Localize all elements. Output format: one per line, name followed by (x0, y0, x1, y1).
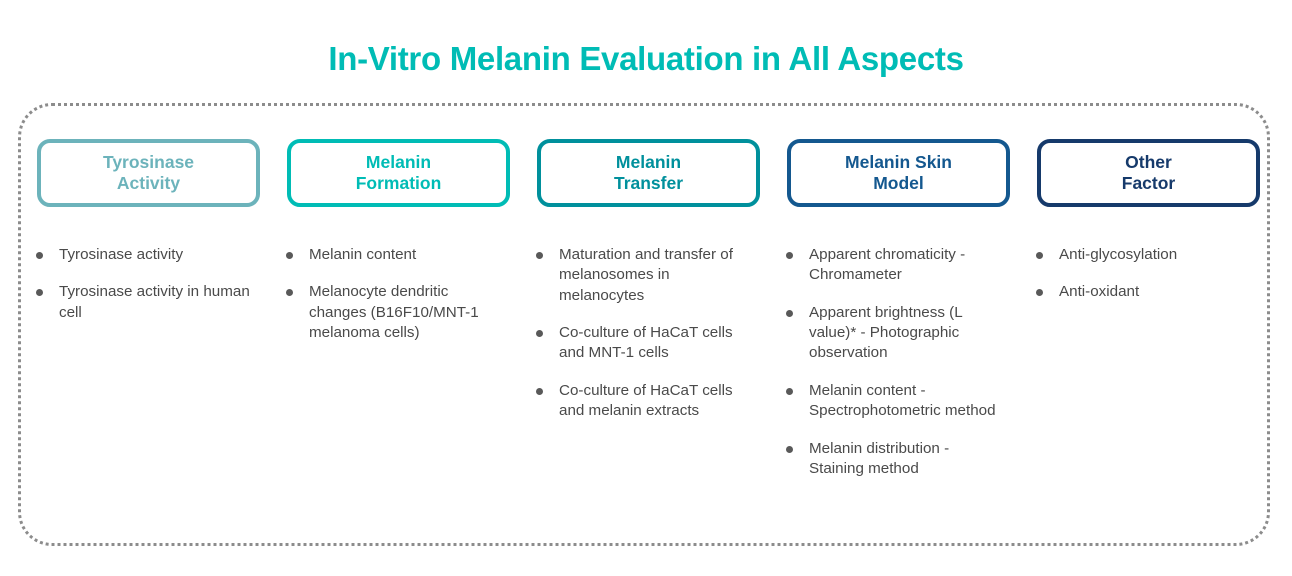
columns-container: Tyrosinase Activity Tyrosinase activity … (18, 103, 1270, 546)
bullet-dot-icon (786, 310, 793, 317)
category-header-melanin-formation[interactable]: Melanin Formation (287, 139, 510, 207)
bullet-list-melanin-skin-model: Apparent chromaticity - Chromameter Appa… (786, 245, 1008, 496)
header-line-1: Other (1125, 152, 1172, 172)
bullet-dot-icon (786, 252, 793, 259)
header-line-2: Activity (117, 173, 180, 193)
list-item: Melanin content - Spectrophotometric met… (786, 381, 1008, 422)
list-item-text: Melanin content - Spectrophotometric met… (809, 381, 1008, 422)
list-item: Anti-oxidant (1036, 282, 1258, 302)
column-melanin-formation: Melanin Formation Melanin content Melano… (268, 103, 518, 360)
list-item-text: Anti-oxidant (1059, 282, 1258, 302)
bullet-dot-icon (36, 252, 43, 259)
column-other-factor: Other Factor Anti-glycosylation Anti-oxi… (1018, 103, 1268, 320)
bullet-dot-icon (286, 252, 293, 259)
list-item: Maturation and transfer of melanosomes i… (536, 245, 758, 306)
list-item: Co-culture of HaCaT cells and melanin ex… (536, 381, 758, 422)
list-item: Melanocyte dendritic changes (B16F10/MNT… (286, 282, 508, 343)
category-header-label: Melanin Skin Model (845, 152, 952, 195)
category-header-other-factor[interactable]: Other Factor (1037, 139, 1260, 207)
header-line-2: Transfer (614, 173, 683, 193)
bullet-dot-icon (786, 388, 793, 395)
list-item-text: Melanocyte dendritic changes (B16F10/MNT… (309, 282, 508, 343)
list-item-text: Tyrosinase activity (59, 245, 258, 265)
bullet-dot-icon (536, 330, 543, 337)
category-header-label: Melanin Transfer (614, 152, 683, 195)
list-item: Anti-glycosylation (1036, 245, 1258, 265)
bullet-list-melanin-transfer: Maturation and transfer of melanosomes i… (536, 245, 758, 439)
list-item: Tyrosinase activity in human cell (36, 282, 258, 323)
bullet-dot-icon (786, 446, 793, 453)
bullet-list-tyrosinase-activity: Tyrosinase activity Tyrosinase activity … (36, 245, 258, 340)
list-item: Melanin distribution - Staining method (786, 439, 1008, 480)
list-item-text: Apparent brightness (L value)* - Photogr… (809, 303, 1008, 364)
category-header-label: Other Factor (1122, 152, 1175, 195)
bullet-dot-icon (286, 289, 293, 296)
category-header-melanin-transfer[interactable]: Melanin Transfer (537, 139, 760, 207)
column-tyrosinase-activity: Tyrosinase Activity Tyrosinase activity … (18, 103, 268, 340)
header-line-2: Formation (356, 173, 442, 193)
bullet-dot-icon (1036, 289, 1043, 296)
list-item-text: Tyrosinase activity in human cell (59, 282, 258, 323)
list-item: Melanin content (286, 245, 508, 265)
header-line-1: Melanin Skin (845, 152, 952, 172)
list-item-text: Maturation and transfer of melanosomes i… (559, 245, 758, 306)
bullet-list-other-factor: Anti-glycosylation Anti-oxidant (1036, 245, 1258, 320)
page-title: In-Vitro Melanin Evaluation in All Aspec… (0, 40, 1292, 78)
list-item-text: Anti-glycosylation (1059, 245, 1258, 265)
header-line-2: Model (873, 173, 924, 193)
list-item: Tyrosinase activity (36, 245, 258, 265)
list-item-text: Melanin distribution - Staining method (809, 439, 1008, 480)
category-header-label: Tyrosinase Activity (103, 152, 194, 195)
list-item: Apparent brightness (L value)* - Photogr… (786, 303, 1008, 364)
header-line-2: Factor (1122, 173, 1175, 193)
bullet-dot-icon (1036, 252, 1043, 259)
header-line-1: Melanin (616, 152, 681, 172)
category-header-tyrosinase-activity[interactable]: Tyrosinase Activity (37, 139, 260, 207)
category-header-label: Melanin Formation (356, 152, 442, 195)
header-line-1: Tyrosinase (103, 152, 194, 172)
bullet-list-melanin-formation: Melanin content Melanocyte dendritic cha… (286, 245, 508, 360)
category-header-melanin-skin-model[interactable]: Melanin Skin Model (787, 139, 1010, 207)
list-item-text: Co-culture of HaCaT cells and melanin ex… (559, 381, 758, 422)
list-item-text: Co-culture of HaCaT cells and MNT-1 cell… (559, 323, 758, 364)
column-melanin-transfer: Melanin Transfer Maturation and transfer… (518, 103, 768, 439)
list-item-text: Melanin content (309, 245, 508, 265)
bullet-dot-icon (536, 388, 543, 395)
bullet-dot-icon (536, 252, 543, 259)
list-item-text: Apparent chromaticity - Chromameter (809, 245, 1008, 286)
bullet-dot-icon (36, 289, 43, 296)
column-melanin-skin-model: Melanin Skin Model Apparent chromaticity… (768, 103, 1018, 496)
list-item: Co-culture of HaCaT cells and MNT-1 cell… (536, 323, 758, 364)
list-item: Apparent chromaticity - Chromameter (786, 245, 1008, 286)
header-line-1: Melanin (366, 152, 431, 172)
